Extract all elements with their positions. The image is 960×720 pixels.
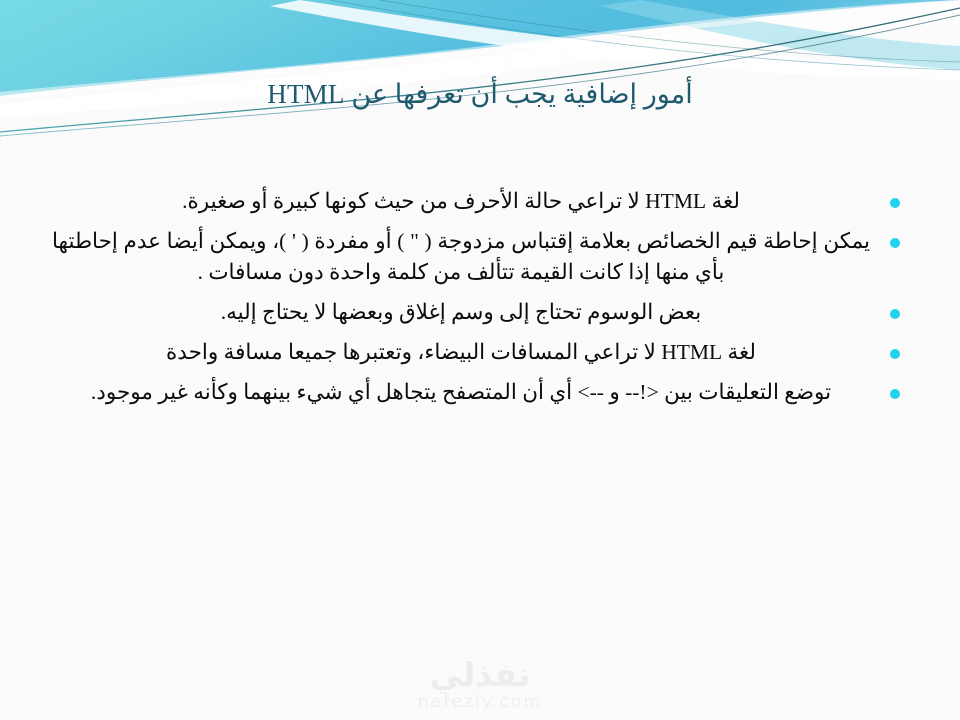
bullet-item-5: توضع التعليقات بين <!-- و --> أي أن المت… [52, 377, 908, 408]
bullet-text-3: بعض الوسوم تحتاج إلى وسم إغلاق وبعضها لا… [52, 297, 870, 328]
bullet-text-5: توضع التعليقات بين <!-- و --> أي أن المت… [52, 377, 870, 408]
watermark: نفذلي nafezly.com [0, 657, 960, 712]
bullet-list: لغة HTML لا تراعي حالة الأحرف من حيث كون… [52, 186, 908, 408]
bullet-item-4: لغة HTML لا تراعي المسافات البيضاء، وتعت… [52, 337, 908, 368]
watermark-brand-arabic: نفذلي [0, 657, 960, 693]
slide-title: أمور إضافية يجب أن تعرفها عن HTML [0, 77, 960, 111]
bullet-item-3: بعض الوسوم تحتاج إلى وسم إغلاق وبعضها لا… [52, 297, 908, 328]
bullet-item-1: لغة HTML لا تراعي حالة الأحرف من حيث كون… [52, 186, 908, 217]
bullet-text-1: لغة HTML لا تراعي حالة الأحرف من حيث كون… [52, 186, 870, 217]
bullet-dot-icon [890, 238, 900, 248]
bullet-text-4: لغة HTML لا تراعي المسافات البيضاء، وتعت… [52, 337, 870, 368]
wave-banner-icon [0, 0, 960, 150]
bullet-item-2: يمكن إحاطة قيم الخصائص بعلامة إقتباس مزد… [52, 226, 908, 288]
bullet-text-2: يمكن إحاطة قيم الخصائص بعلامة إقتباس مزد… [52, 226, 870, 288]
slide-content: لغة HTML لا تراعي حالة الأحرف من حيث كون… [52, 186, 908, 408]
bullet-dot-icon [890, 309, 900, 319]
bullet-dot-icon [890, 198, 900, 208]
presentation-slide: أمور إضافية يجب أن تعرفها عن HTML لغة HT… [0, 0, 960, 720]
watermark-domain: nafezly.com [0, 693, 960, 712]
header-wave-banner [0, 0, 960, 150]
bullet-dot-icon [890, 349, 900, 359]
bullet-dot-icon [890, 389, 900, 399]
